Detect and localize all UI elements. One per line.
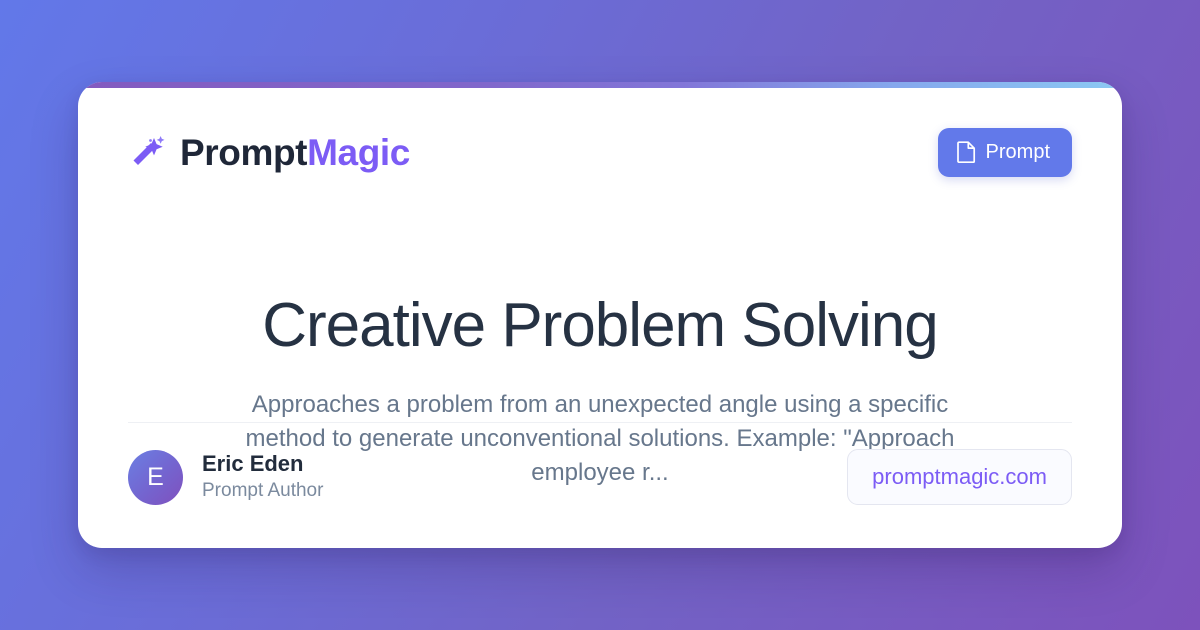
card-footer: E Eric Eden Prompt Author promptmagic.co… bbox=[128, 446, 1072, 508]
footer-divider bbox=[128, 422, 1072, 423]
author-role: Prompt Author bbox=[202, 479, 323, 504]
prompt-card: PromptMagic Prompt Creative Problem Solv… bbox=[78, 82, 1122, 548]
avatar: E bbox=[128, 450, 183, 505]
brand-name-accent: Magic bbox=[307, 132, 410, 173]
prompt-button-label: Prompt bbox=[986, 141, 1050, 164]
card-accent-bar bbox=[78, 82, 1122, 88]
page-title: Creative Problem Solving bbox=[128, 290, 1072, 361]
prompt-button[interactable]: Prompt bbox=[938, 128, 1072, 177]
magic-wand-icon bbox=[128, 133, 166, 171]
author-block: E Eric Eden Prompt Author bbox=[128, 450, 323, 505]
author-details: Eric Eden Prompt Author bbox=[202, 450, 323, 504]
site-badge[interactable]: promptmagic.com bbox=[847, 449, 1072, 505]
brand-logo: PromptMagic bbox=[128, 133, 410, 171]
brand-name: PromptMagic bbox=[180, 134, 410, 171]
author-name: Eric Eden bbox=[202, 450, 323, 478]
card-header: PromptMagic Prompt bbox=[128, 124, 1072, 180]
document-icon bbox=[957, 141, 976, 163]
brand-name-primary: Prompt bbox=[180, 132, 307, 173]
